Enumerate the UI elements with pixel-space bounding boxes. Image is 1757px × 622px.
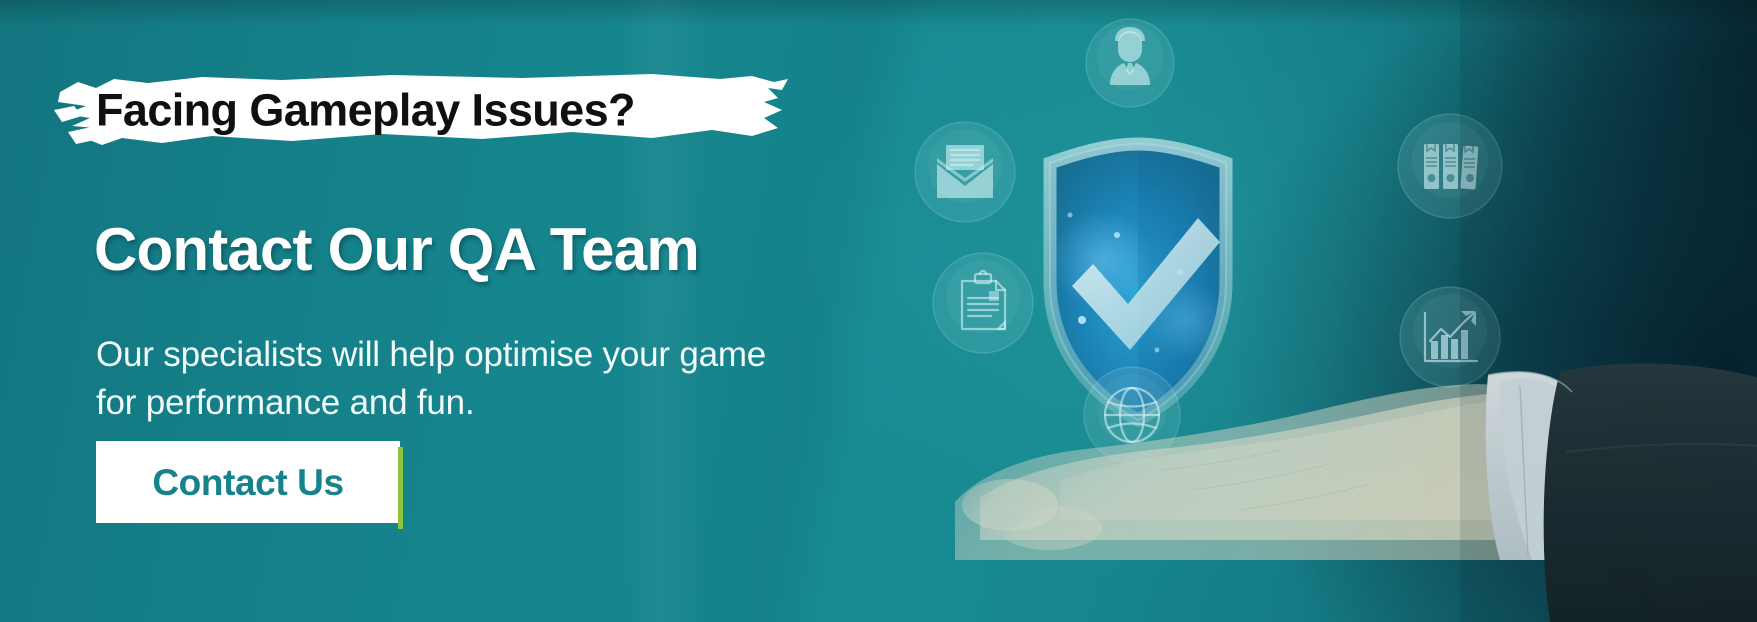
clipboard-document-icon [933, 253, 1033, 353]
subcopy: Our specialists will help optimise your … [96, 331, 896, 426]
eyebrow-text: Facing Gameplay Issues? [96, 88, 635, 133]
subcopy-line-1: Our specialists will help optimise your … [96, 331, 896, 379]
banner-content: Facing Gameplay Issues? Contact Our QA T… [0, 0, 920, 622]
subcopy-line-2: for performance and fun. [96, 379, 896, 427]
support-agent-icon [1086, 19, 1174, 107]
contact-us-button[interactable]: Contact Us [96, 441, 400, 523]
contact-us-button-accent-bar [398, 447, 403, 529]
contact-qa-banner: Facing Gameplay Issues? Contact Our QA T… [0, 0, 1757, 622]
qa-illustration [860, 0, 1757, 622]
eyebrow-headline: Facing Gameplay Issues? [52, 66, 792, 154]
envelope-mail-icon [915, 122, 1015, 222]
page-title: Contact Our QA Team [94, 218, 699, 281]
contact-us-button-label: Contact Us [152, 464, 343, 501]
